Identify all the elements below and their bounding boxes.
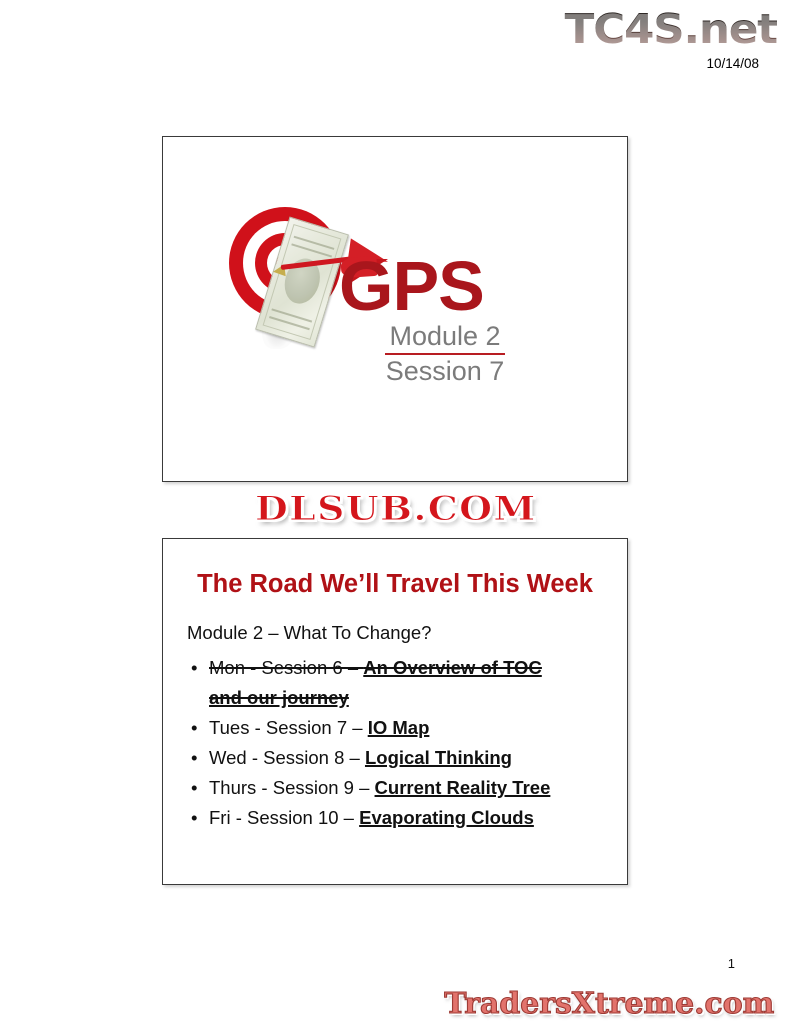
- agenda-item-emphasis: IO Map: [368, 717, 430, 738]
- gps-module-label: Module 2: [385, 321, 504, 355]
- tradersxtreme-watermark: TradersXtreme.com: [444, 984, 774, 1022]
- tc4s-brand-logo: TC4S.net: [459, 4, 777, 54]
- page-header: TC4S.net 10/14/08: [477, 0, 777, 71]
- header-date: 10/14/08: [477, 56, 759, 71]
- agenda-item-emphasis: Evaporating Clouds: [359, 807, 534, 828]
- bullet-point-icon: •: [191, 773, 197, 803]
- gps-logo: GPS Module 2 Session 7: [225, 185, 555, 385]
- agenda-item: •Mon - Session 6 – An Overview of TOC an…: [187, 653, 579, 713]
- dlsub-watermark-text: DLSUB.COM: [255, 489, 537, 529]
- agenda-item-prefix: Thurs - Session 9 –: [209, 777, 375, 798]
- agenda-item-emphasis: Logical Thinking: [365, 747, 512, 768]
- agenda-item: •Wed - Session 8 – Logical Thinking: [187, 743, 579, 773]
- agenda-item-emphasis: Current Reality Tree: [375, 777, 551, 798]
- slide-thumbnail-1[interactable]: GPS Module 2 Session 7: [162, 136, 628, 482]
- agenda-item: •Thurs - Session 9 – Current Reality Tre…: [187, 773, 579, 803]
- slide-body: Module 2 – What To Change? •Mon - Sessio…: [187, 621, 627, 833]
- gps-module-row: Module 2: [337, 321, 553, 355]
- agenda-item: •Tues - Session 7 – IO Map: [187, 713, 579, 743]
- dlsub-watermark: DLSUB.COM: [0, 489, 791, 529]
- agenda-item-prefix: Mon - Session 6 –: [209, 657, 363, 678]
- bullet-point-icon: •: [191, 743, 197, 773]
- bullet-point-icon: •: [191, 713, 197, 743]
- gps-title: GPS: [339, 251, 553, 321]
- agenda-item: •Fri - Session 10 – Evaporating Clouds: [187, 803, 579, 833]
- target-bullseye-icon: [225, 203, 353, 333]
- slide-intro-line: Module 2 – What To Change?: [187, 621, 627, 645]
- gps-session-label: Session 7: [337, 355, 553, 388]
- slide-thumbnail-2[interactable]: The Road We’ll Travel This Week Module 2…: [162, 538, 628, 885]
- agenda-list: •Mon - Session 6 – An Overview of TOC an…: [187, 653, 627, 833]
- bullet-point-icon: •: [191, 803, 197, 833]
- agenda-item-prefix: Wed - Session 8 –: [209, 747, 365, 768]
- agenda-item-prefix: Tues - Session 7 –: [209, 717, 368, 738]
- gps-wordmark: GPS Module 2 Session 7: [337, 251, 553, 388]
- slide-title: The Road We’ll Travel This Week: [177, 569, 613, 599]
- page-number: 1: [728, 956, 735, 971]
- agenda-item-prefix: Fri - Session 10 –: [209, 807, 359, 828]
- bullet-point-icon: •: [191, 653, 197, 683]
